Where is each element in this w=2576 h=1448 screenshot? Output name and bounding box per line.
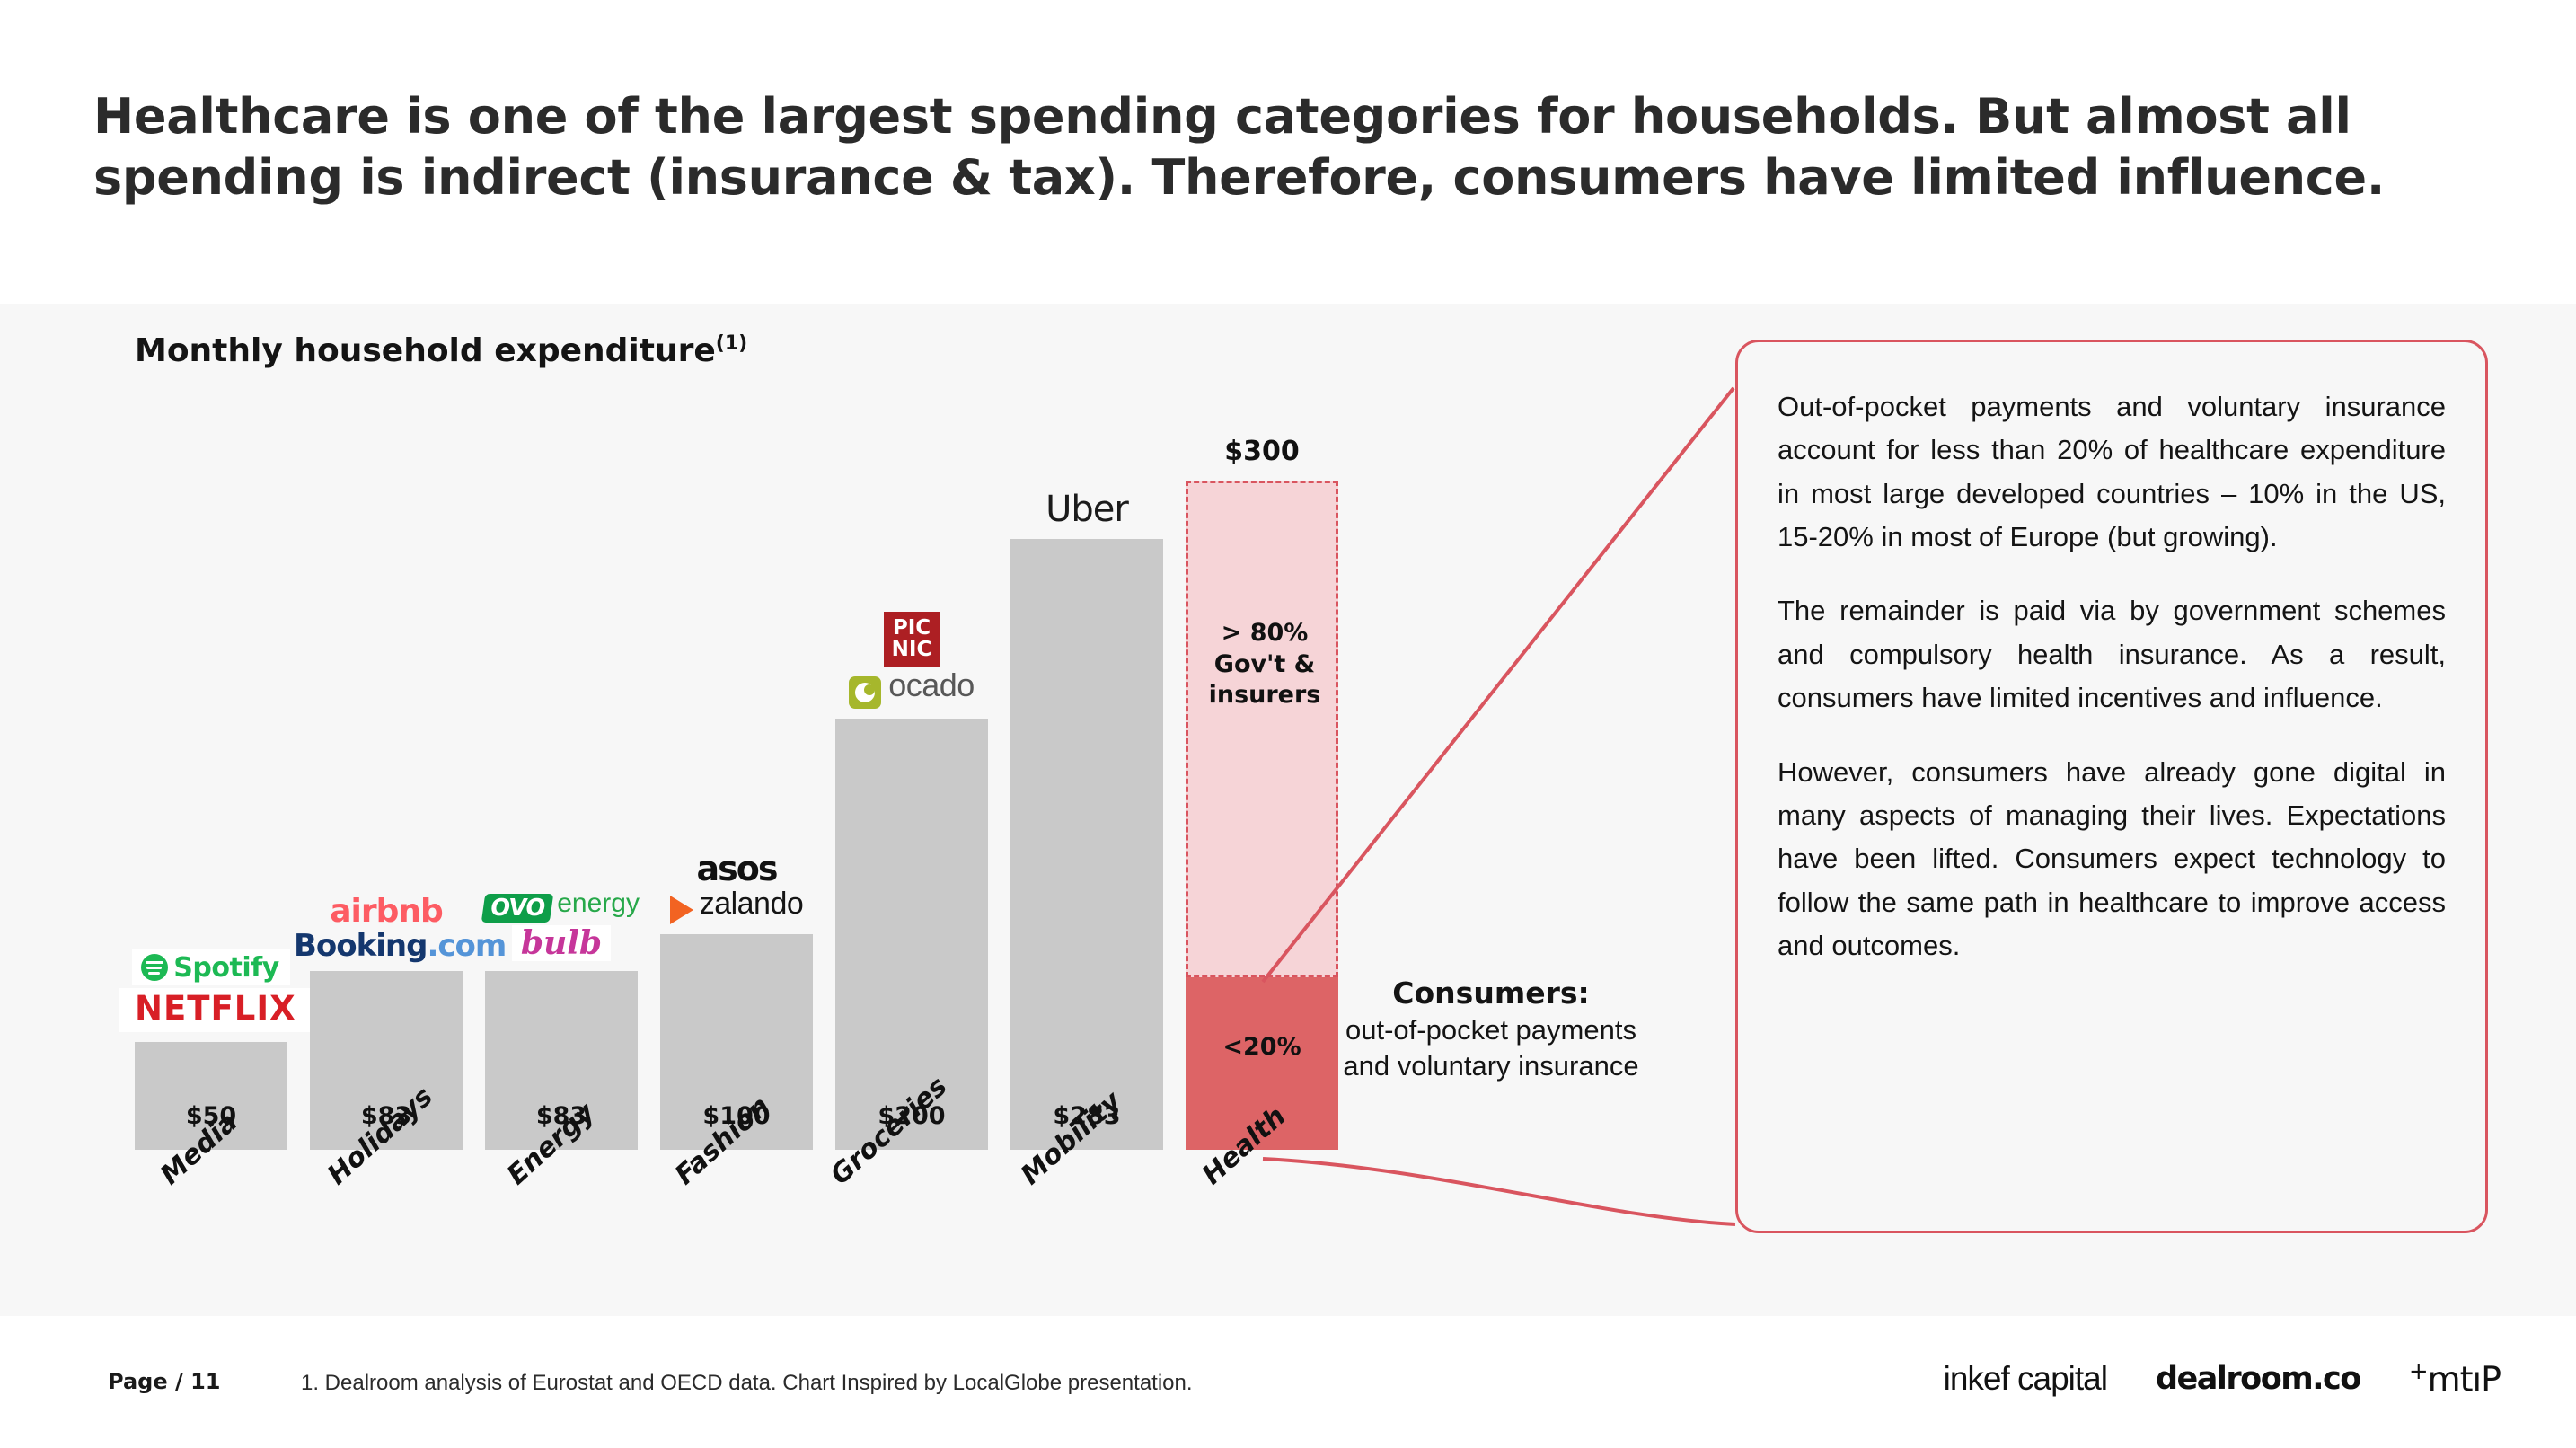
mtip-plus-icon: + <box>2409 1358 2428 1385</box>
logo-group-mobility: Uber <box>994 491 1179 530</box>
chart-title-text: Monthly household expenditure <box>135 332 716 369</box>
netflix-logo: NETFLIX <box>119 988 304 1032</box>
inkef-capital-logo: inkef capital <box>1944 1360 2107 1398</box>
ovo-mark-icon: OVO <box>481 894 554 923</box>
booking-logo: Booking.com <box>294 931 479 961</box>
bar-groceries <box>835 719 988 1150</box>
bar-value-health: $300 <box>1186 436 1338 467</box>
logo-group-energy: OVOenergy bulb <box>469 890 654 964</box>
bar-chart: Spotify NETFLIX $50 airbnb Booking.com $… <box>135 377 1320 1150</box>
logo-group-media: Spotify NETFLIX <box>119 949 304 1035</box>
picnic-logo: PICNIC <box>819 612 1004 667</box>
bar-health-government-label: > 80% Gov't & insurers <box>1188 618 1341 711</box>
dealroom-logo: dealroom.co <box>2156 1361 2360 1397</box>
page-number: Page / 11 <box>108 1369 220 1394</box>
brand-logo-row: inkef capital dealroom.co +mtıP <box>1944 1358 2501 1399</box>
ocado-logo: ocado <box>819 669 1004 709</box>
callout-paragraph-2: The remainder is paid via by government … <box>1778 589 2446 720</box>
logo-group-holidays: airbnb Booking.com <box>294 896 479 964</box>
bar-health-segment-government: > 80% Gov't & insurers <box>1186 481 1338 977</box>
ocado-icon <box>849 676 881 709</box>
airbnb-logo: airbnb <box>294 896 479 928</box>
page-title: Healthcare is one of the largest spendin… <box>93 86 2501 208</box>
consumers-line-1: out-of-pocket payments <box>1345 1014 1636 1046</box>
chart-title-footnote-marker: (1) <box>716 332 747 355</box>
bar-mobility <box>1010 539 1163 1150</box>
logo-group-fashion: asos zalando <box>644 852 829 927</box>
zalando-logo: zalando <box>644 888 829 924</box>
consumers-annotation: Consumers: out-of-pocket payments and vo… <box>1293 975 1689 1084</box>
consumers-line-2: and voluntary insurance <box>1343 1050 1638 1082</box>
callout-box: Out-of-pocket payments and voluntary ins… <box>1735 340 2488 1233</box>
logo-group-groceries: PICNIC ocado <box>819 612 1004 711</box>
callout-paragraph-1: Out-of-pocket payments and voluntary ins… <box>1778 385 2446 559</box>
asos-logo: asos <box>644 852 829 886</box>
zalando-icon <box>670 896 693 924</box>
footnote-text: 1. Dealroom analysis of Eurostat and OEC… <box>301 1371 1193 1396</box>
bulb-logo: bulb <box>469 925 654 961</box>
consumers-heading: Consumers: <box>1392 976 1589 1011</box>
callout-paragraph-3: However, consumers have already gone dig… <box>1778 751 2446 968</box>
uber-logo: Uber <box>994 491 1179 527</box>
spotify-logo: Spotify <box>119 949 304 985</box>
bar-column-mobility: Uber $283 <box>1010 539 1163 1150</box>
spotify-icon <box>141 954 168 981</box>
mtip-logo: +mtıP <box>2409 1358 2501 1399</box>
chart-title: Monthly household expenditure(1) <box>135 332 747 369</box>
ovo-energy-logo: OVOenergy <box>469 890 654 923</box>
bar-column-groceries: PICNIC ocado $200 <box>835 719 988 1150</box>
